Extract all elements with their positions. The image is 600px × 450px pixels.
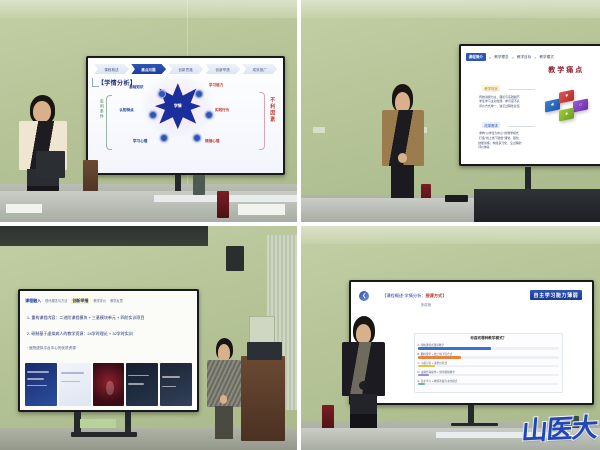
slide3-nav: 课程融入 现代理念与方法 创新举措 教学评价 教学反思	[25, 294, 192, 307]
poll-row-2: C. 小组讨论 + 案例分析式	[418, 361, 560, 368]
hands-with-clicker	[359, 381, 369, 390]
poll-fill-3	[418, 374, 429, 376]
photo-collage: 课程概述 痛点问题 创新思路 创新举措 成效推广 【学情分析】 有利条件 不利因…	[0, 0, 600, 450]
thumbnail-1[interactable]	[59, 363, 91, 406]
mug	[193, 175, 205, 195]
block-1-body: ·重构"以学生为中心"的教学模式 ·打造"线上线下融合"课堂，强化 技能训练；构…	[478, 131, 521, 150]
slide-innovative-measures: 课程融入 现代理念与方法 创新举措 教学评价 教学反思 1. 重构课程内容：二进…	[20, 291, 197, 410]
podium	[241, 356, 286, 441]
nav-item-3[interactable]: 教学评价	[93, 298, 106, 303]
display-screen: 课程融入 现代理念与方法 创新举措 教学评价 教学反思 1. 重构课程内容：二进…	[20, 291, 197, 410]
head	[33, 101, 50, 122]
nav-item-3[interactable]: 创新举措	[205, 64, 240, 75]
chevron-right-icon-1: »	[489, 55, 491, 60]
nav-item-3[interactable]: 教学模式	[539, 55, 553, 60]
node-title-3: 实践行为	[215, 108, 229, 113]
display-stand-foot	[71, 432, 136, 436]
node-dot-4	[160, 134, 168, 142]
node-title-4: 学习心理	[133, 139, 147, 144]
breadcrumb-prefix: 【课程概述·学情分析：	[382, 293, 425, 298]
node-label-0: 基础知识	[129, 85, 143, 90]
node-title-2: 认知特点	[119, 108, 133, 113]
poll-card: 你喜欢哪种教学模式？ A. 传统讲授式课堂教学 B. 翻转课堂 + 线上线下混合…	[414, 333, 564, 394]
wall-upper-band	[301, 0, 600, 18]
remote-device	[445, 195, 469, 202]
right-brace	[259, 92, 265, 150]
thumbnail-4[interactable]	[160, 363, 192, 406]
display-stand-foot	[451, 423, 499, 426]
wall-speaker	[226, 246, 244, 271]
nav-item-0[interactable]: 课程融入	[25, 298, 41, 304]
block-0-heading: 教学现状	[482, 85, 500, 91]
poll-track-0	[418, 347, 560, 349]
poll-label-1: B. 翻转课堂 + 线上线下混合式	[418, 352, 560, 356]
slide2-nav: 课程简介 » 教学理念 » 教学目标 » 教学模式	[466, 51, 599, 63]
poll-track-2	[418, 365, 560, 367]
mobile-display: 课程融入 现代理念与方法 创新举措 教学评价 教学反思 1. 重构课程内容：二进…	[18, 289, 199, 412]
slide4-breadcrumb: 【课程概述·学情分析：授课方式】	[382, 293, 446, 299]
thumbnail-2[interactable]	[93, 363, 125, 406]
stand-tray	[80, 419, 116, 428]
left-brace	[106, 95, 112, 150]
block-1-rule	[508, 126, 536, 127]
thumbnail-0[interactable]	[25, 363, 57, 406]
nav-item-4[interactable]: 成效推广	[242, 64, 277, 75]
hands	[398, 153, 408, 163]
poll-label-0: A. 传统讲授式课堂教学	[418, 343, 560, 347]
wall-socket-left	[313, 127, 325, 134]
node-title-0: 基础知识	[129, 85, 143, 90]
papers-left	[6, 204, 42, 213]
cube-purple: ○	[573, 98, 588, 112]
poll-fill-0	[418, 347, 492, 349]
slide3-line-2: · 医院虚拟平台中心的优质资源	[27, 346, 76, 351]
poll-track-4	[418, 383, 560, 385]
slide1-nav: 课程概述 痛点问题 创新思路 创新举措 成效推广	[94, 62, 277, 76]
node-label-4: 学习心理	[133, 139, 147, 144]
nav-item-2-active[interactable]: 创新举措	[71, 298, 89, 304]
breadcrumb-highlight: 授课方式	[425, 293, 442, 298]
poll-row-4: E. 自主学习 + 教师答疑为主的模式	[418, 379, 560, 386]
block-1-heading: 改革需求	[482, 122, 500, 128]
display-screen: 课程简介 » 教学理念 » 教学目标 » 教学模式 教学痛点 教学现状 ·传统讲…	[461, 46, 600, 164]
poll-label-4: E. 自主学习 + 教师答疑为主的模式	[418, 379, 560, 383]
node-label-2: 认知特点	[119, 108, 133, 113]
watermark-logo: 山医大	[520, 407, 599, 448]
panel-bottom-left: 课程融入 现代理念与方法 创新举措 教学评价 教学反思 1. 重构课程内容：二进…	[0, 226, 297, 450]
chevron-right-icon-2: »	[512, 55, 514, 60]
slide3-thumbnail-strip	[25, 363, 192, 406]
slide1-right-vertical-label: 不利因素	[269, 97, 276, 123]
thumbnail-3[interactable]	[126, 363, 158, 406]
breadcrumb-suffix: 】	[442, 293, 446, 298]
nav-item-2[interactable]: 教学目标	[517, 55, 531, 60]
nav-item-0-active[interactable]: 课程简介	[466, 53, 486, 60]
poll-fill-2	[418, 365, 435, 367]
poll-row-3: D. 虚拟仿真操作 + 情景模拟教学	[418, 370, 560, 377]
node-title-1: 学习能力	[209, 83, 223, 88]
hands	[220, 395, 228, 403]
chevron-right-icon-3: »	[534, 55, 536, 60]
nav-item-4[interactable]: 教学反思	[110, 298, 123, 303]
node-dot-5	[193, 134, 201, 142]
slide1-left-vertical-label: 有利条件	[99, 99, 105, 119]
slide-teaching-pain-points: 课程简介 » 教学理念 » 教学目标 » 教学模式 教学痛点 教学现状 ·传统讲…	[461, 46, 600, 164]
presenter-4	[340, 316, 388, 435]
slide-learner-analysis: 课程概述 痛点问题 创新思路 创新举措 成效推广 【学情分析】 有利条件 不利因…	[88, 58, 283, 174]
thermos	[217, 191, 229, 218]
nav-item-1[interactable]: 现代理念与方法	[45, 298, 67, 303]
node-title-5: 情绪心理	[205, 139, 219, 144]
slide3-line-0: 1. 重构课程内容：二进阶课程模块 + 三基模块单元 + 四阶实训项目	[27, 315, 145, 321]
trousers	[215, 406, 234, 439]
nav-item-2[interactable]: 创新思路	[168, 64, 203, 75]
chair	[36, 151, 66, 178]
poll-track-3	[418, 374, 560, 376]
panel-top-left: 课程概述 痛点问题 创新思路 创新举措 成效推广 【学情分析】 有利条件 不利因…	[0, 0, 297, 222]
back-arrow-icon[interactable]: ❮	[359, 291, 369, 301]
node-dot-2	[149, 111, 157, 119]
node-label-5: 情绪心理	[205, 139, 219, 144]
panel-bottom-right: ❮ 【课程概述·学情分析：授课方式】 多讲授 自主学习能力薄弱 你喜欢哪种教学模…	[301, 226, 600, 450]
wall-upper-band	[0, 0, 297, 18]
nav-item-0[interactable]: 课程概述	[94, 64, 129, 75]
slide3-line-1: 2. 研制基于虚拟病人的教学资源：24学时理论 + 32学时实训	[27, 331, 133, 337]
slide2-title: 教学痛点	[548, 65, 584, 75]
panel-top-right: 课程简介 » 教学理念 » 教学目标 » 教学模式 教学痛点 教学现状 ·传统讲…	[301, 0, 600, 222]
display-stand	[525, 167, 531, 191]
wall-upper-band	[301, 226, 600, 244]
display-screen: 课程概述 痛点问题 创新思路 创新举措 成效推广 【学情分析】 有利条件 不利因…	[88, 58, 283, 174]
block-0-body: ·传统讲授为主，理论与实践脱节 ·学生学习主动性弱，参与度不高 ·评价方式单一，…	[478, 95, 519, 109]
wall-display: 课程概述 痛点问题 创新思路 创新举措 成效推广 【学情分析】 有利条件 不利因…	[86, 56, 285, 176]
wall-display: 课程简介 » 教学理念 » 教学目标 » 教学模式 教学痛点 教学现状 ·传统讲…	[459, 44, 600, 166]
poll-label-2: C. 小组讨论 + 案例分析式	[418, 361, 560, 365]
papers	[238, 204, 286, 215]
nav-item-1[interactable]: 教学理念	[494, 55, 508, 60]
node-label-3: 实践行为	[215, 108, 229, 113]
node-label-1: 学习能力	[209, 83, 223, 88]
poll-row-1: B. 翻转课堂 + 线上线下混合式	[418, 352, 560, 359]
hub-label: 学情	[174, 103, 182, 109]
ceiling-beam	[0, 226, 208, 246]
nav-item-1-active[interactable]: 痛点问题	[131, 64, 166, 75]
back-counter	[474, 189, 600, 222]
poll-fill-1	[418, 356, 462, 358]
poll-row-0: A. 传统讲授式课堂教学	[418, 343, 560, 350]
presenter-2	[379, 84, 427, 208]
node-dot-3	[205, 111, 213, 119]
block-0-rule	[508, 89, 536, 90]
poll-question: 你喜欢哪种教学模式？	[418, 336, 560, 341]
slide4-subtitle: 多讲授	[421, 302, 431, 307]
presenter-3	[205, 338, 244, 439]
podium-laptop	[247, 342, 283, 360]
poll-fill-4	[418, 383, 425, 385]
slide4-badge: 自主学习能力薄弱	[530, 290, 583, 300]
cube-green: ●	[559, 107, 574, 121]
poll-track-1	[418, 356, 560, 358]
poll-label-3: D. 虚拟仿真操作 + 情景模拟教学	[418, 370, 560, 374]
